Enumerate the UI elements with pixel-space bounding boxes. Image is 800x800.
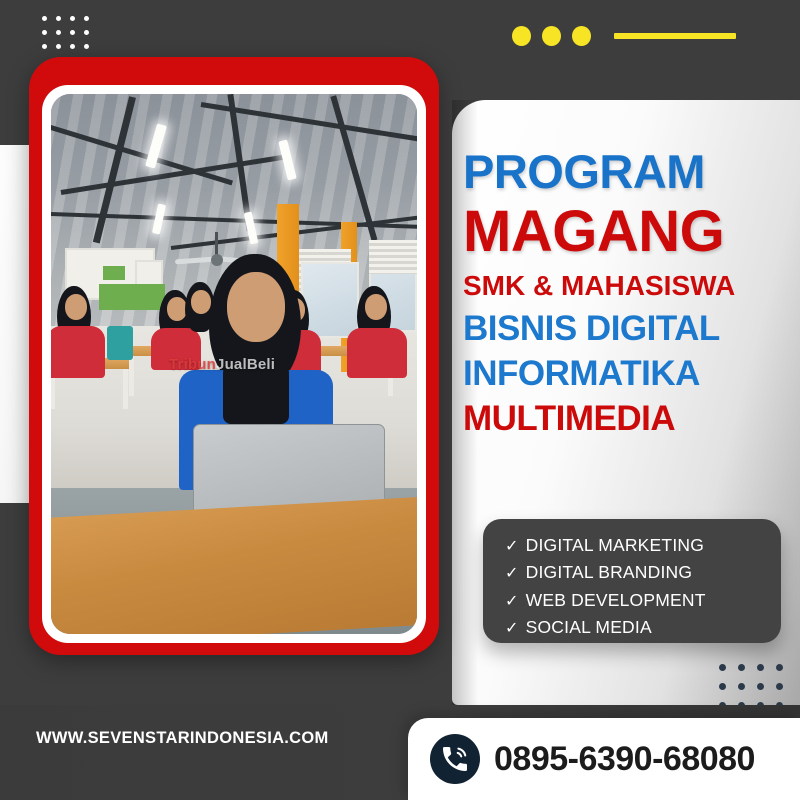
check-icon: ✓	[505, 535, 519, 559]
photo-frame: acer TribunJualBeli	[29, 57, 439, 655]
dot-grid-bottom-right-icon	[719, 664, 783, 709]
poster-root: acer TribunJualBeli PROGRAM MAGANG SMK &…	[0, 0, 800, 800]
watermark: TribunJualBeli	[169, 356, 275, 373]
service-label: SOCIAL MEDIA	[526, 614, 652, 641]
service-item: ✓ SOCIAL MEDIA	[505, 614, 781, 641]
watermark-suffix: JualBeli	[216, 356, 275, 373]
service-label: DIGITAL MARKETING	[526, 532, 704, 559]
headline-magang: MAGANG	[463, 203, 793, 261]
service-item: ✓ DIGITAL BRANDING	[505, 559, 781, 586]
yellow-circle-icon	[512, 26, 531, 46]
photo-white-border: acer TribunJualBeli	[42, 85, 426, 643]
service-item: ✓ DIGITAL MARKETING	[505, 532, 781, 559]
phone-badge[interactable]: 0895-6390-68080	[408, 718, 800, 800]
foreground-table	[51, 493, 417, 634]
yellow-accent-row	[512, 26, 736, 46]
service-label: DIGITAL BRANDING	[526, 559, 693, 586]
headline-bisnis-digital: BISNIS DIGITAL	[463, 311, 793, 346]
check-icon: ✓	[505, 590, 519, 614]
phone-icon	[430, 734, 480, 784]
check-icon: ✓	[505, 617, 519, 641]
headline-block: PROGRAM MAGANG SMK & MAHASISWA BISNIS DI…	[463, 148, 793, 436]
headline-program: PROGRAM	[463, 148, 793, 195]
headline-multimedia: MULTIMEDIA	[463, 401, 793, 436]
services-card: ✓ DIGITAL MARKETING ✓ DIGITAL BRANDING ✓…	[483, 519, 781, 643]
service-item: ✓ WEB DEVELOPMENT	[505, 587, 781, 614]
headline-informatika: INFORMATIKA	[463, 356, 793, 391]
website-label[interactable]: WWW.SEVENSTARINDONESIA.COM	[36, 729, 329, 748]
yellow-bar-icon	[614, 33, 736, 39]
yellow-circle-icon	[542, 26, 561, 46]
classroom-photo: acer TribunJualBeli	[51, 94, 417, 634]
phone-number[interactable]: 0895-6390-68080	[494, 740, 755, 779]
dot-grid-top-left-icon	[42, 16, 89, 49]
yellow-circle-icon	[572, 26, 591, 46]
headline-audience: SMK & MAHASISWA	[463, 272, 793, 300]
service-label: WEB DEVELOPMENT	[526, 587, 706, 614]
watermark-prefix: Tribun	[169, 356, 216, 373]
check-icon: ✓	[505, 562, 519, 586]
